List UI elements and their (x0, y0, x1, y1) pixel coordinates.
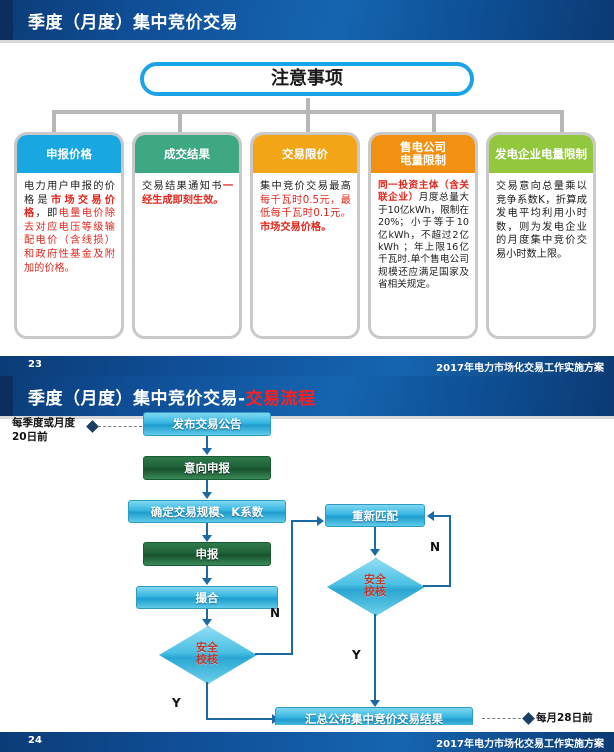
flow-edge-y-left-h (206, 718, 274, 720)
bracket-stem-1 (52, 110, 56, 132)
bracket-stem-2 (178, 110, 182, 132)
flow-label-n-right: N (430, 540, 440, 554)
diamond-label-line2: 校核 (364, 586, 386, 598)
note-card-body: 同一投资主体（含关联企业）月度总量大于10亿kWh，限制在20%；小于等于10亿… (371, 173, 475, 296)
flow-note-right: 每月28日前 (536, 711, 593, 725)
flow-edge-n-left-h (255, 653, 293, 655)
flow-edge-y-left-v (206, 682, 208, 720)
flow-arrow-n-left (317, 516, 324, 526)
flow-edge-6 (374, 527, 376, 551)
slide2-title-highlight: 交易流程 (246, 389, 316, 409)
slide2-footer-doc-title: 2017年电力市场化交易工作实施方案 (436, 735, 604, 750)
flow-node-rematch: 重新匹配 (325, 504, 425, 527)
note-card-header: 成交结果 (135, 135, 239, 173)
diamond-label: 安全 校核 (159, 626, 255, 682)
slide1-footer-doc-title: 2017年电力市场化交易工作实施方案 (436, 359, 604, 374)
bracket-stem-5 (560, 110, 564, 132)
banner-accent-bar (0, 376, 13, 416)
flow-arrow-5 (202, 619, 212, 626)
flow-edge-y-right-v (374, 614, 376, 702)
flow-decision-security-check-2: 安全 校核 (327, 558, 423, 614)
banner-divider (0, 416, 614, 419)
flow-note-left: 每季度或月度 20日前 (12, 416, 75, 444)
slide1-footer-gap (0, 349, 614, 356)
flow-label-y-left: Y (172, 696, 181, 710)
bracket-stem-4 (432, 110, 436, 132)
flow-arrow-6 (370, 549, 380, 556)
note-card-declared-price: 申报价格 电力用户申报的价格是市场交易价格，即电量电价除去对应电压等级输配电价（… (14, 132, 124, 339)
flow-node-declare: 申报 (143, 542, 271, 566)
flow-edge-n-left-top (291, 520, 319, 522)
slide2-footer: 24 2017年电力市场化交易工作实施方案 (0, 732, 614, 752)
flow-decision-security-check-1: 安全 校核 (159, 626, 255, 682)
note-card-header: 交易限价 (253, 135, 357, 173)
slide-notes: 季度（月度）集中竞价交易 注意事项 申报价格 电力用户申报的价格是市场交易价格，… (0, 0, 614, 376)
note-card-generator-limit: 发电企业电量限制 交易意向总量乘以竞争系数K，折算成发电平均利用小时数，则为发电… (486, 132, 596, 339)
diamond-label: 安全 校核 (327, 558, 423, 614)
flow-note-left-marker (86, 420, 99, 433)
note-card-header: 申报价格 (17, 135, 121, 173)
flow-edge-n-right-h (423, 585, 451, 587)
note-card-body: 集中竞价交易最高每千瓦时0.5元，最低每千瓦时0.1元。市场交易价格。 (253, 173, 357, 238)
slide1-page-number: 23 (28, 359, 42, 370)
slide2-title: 季度（月度）集中竞价交易-交易流程 (28, 384, 316, 409)
flow-label-n-left: N (270, 606, 280, 620)
flow-label-y-right: Y (352, 648, 361, 662)
slide2-footer-gap (0, 725, 614, 732)
note-card-body: 电力用户申报的价格是市场交易价格，即电量电价除去对应电压等级输配电价（含线损）和… (17, 173, 121, 279)
banner-divider (0, 40, 614, 43)
flow-note-left-dash (98, 426, 142, 427)
diamond-label-line2: 校核 (196, 654, 218, 666)
slide1-banner: 季度（月度）集中竞价交易 (0, 0, 614, 40)
slide2-title-main: 季度（月度）集中竞价交易- (28, 389, 246, 409)
slide-flowchart: 季度（月度）集中竞价交易-交易流程 每季度或月度 20日前 发布交易公告 意向申… (0, 376, 614, 752)
flow-edge-n-right-v (449, 515, 451, 587)
flow-arrow-y-right (370, 700, 380, 707)
note-card-price-limit: 交易限价 集中竞价交易最高每千瓦时0.5元，最低每千瓦时0.1元。市场交易价格。 (250, 132, 360, 339)
flow-arrow-2 (202, 492, 212, 499)
flow-node-scale-k: 确定交易规模、K系数 (128, 500, 286, 523)
slide1-footer: 23 2017年电力市场化交易工作实施方案 (0, 356, 614, 376)
flow-node-matching: 撮合 (136, 586, 278, 609)
flow-arrow-3 (202, 535, 212, 542)
flow-node-intent-declaration: 意向申报 (143, 456, 271, 480)
flow-arrow-1 (202, 448, 212, 455)
note-card-header: 售电公司 电量限制 (371, 135, 475, 173)
card-bracket-connector (52, 110, 564, 132)
flow-node-publish-notice: 发布交易公告 (143, 412, 271, 436)
note-card-retailer-limit: 售电公司 电量限制 同一投资主体（含关联企业）月度总量大于10亿kWh，限制在2… (368, 132, 478, 339)
flow-edge-n-right-top (433, 515, 451, 517)
slide2-page-number: 24 (28, 735, 42, 746)
note-card-body: 交易意向总量乘以竞争系数K，折算成发电平均利用小时数，则为发电企业的月度集中竞价… (489, 173, 593, 266)
flow-note-right-marker (522, 712, 535, 725)
flow-edge-n-left-v (291, 520, 293, 655)
banner-accent-bar (0, 0, 13, 40)
notes-pill-label: 注意事项 (140, 66, 474, 92)
slide2-banner: 季度（月度）集中竞价交易-交易流程 (0, 376, 614, 416)
note-card-header: 发电企业电量限制 (489, 135, 593, 173)
bracket-stem-3 (306, 110, 310, 132)
slide1-title: 季度（月度）集中竞价交易 (28, 8, 238, 33)
bracket-stem-top (306, 98, 310, 111)
note-card-trade-result: 成交结果 交易结果通知书一经生成即刻生效。 (132, 132, 242, 339)
flow-arrow-n-right (427, 511, 434, 521)
note-card-body: 交易结果通知书一经生成即刻生效。 (135, 173, 239, 211)
flowchart: 每季度或月度 20日前 发布交易公告 意向申报 确定交易规模、K系数 申报 撮合… (0, 420, 614, 720)
flow-note-right-dash (482, 718, 526, 719)
flow-arrow-4 (202, 578, 212, 585)
